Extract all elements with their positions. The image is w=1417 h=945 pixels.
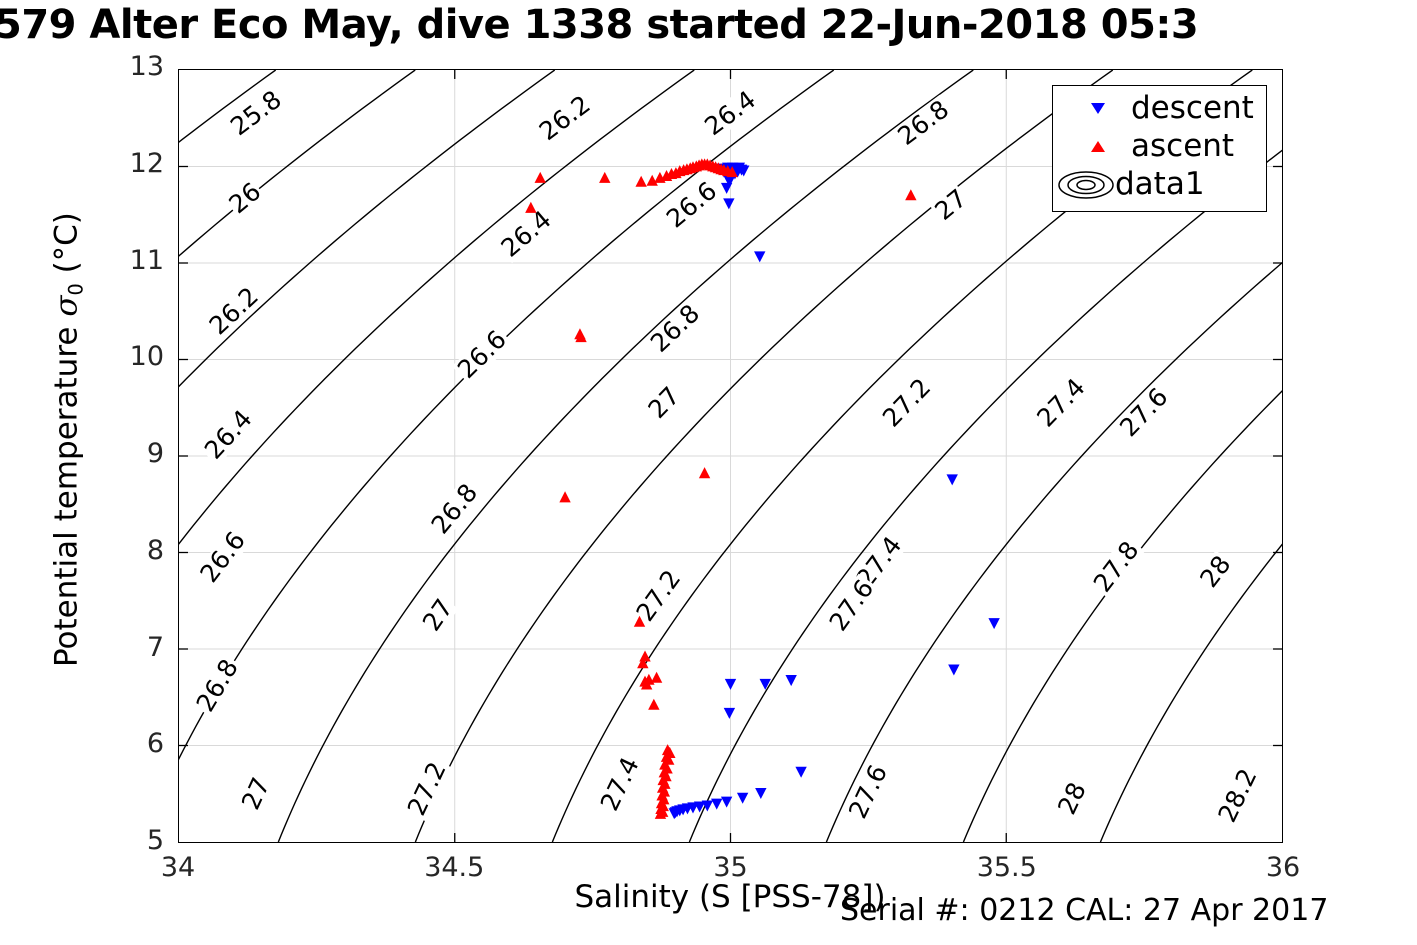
contour-ellipses-icon <box>1057 165 1115 204</box>
instrument-info: Serial #: 0212 CAL: 27 Apr 2017 <box>840 893 1328 928</box>
marker-ascent <box>905 189 916 200</box>
marker-descent <box>785 675 796 686</box>
sigma-symbol: σ <box>48 296 84 317</box>
y-tick-label: 6 <box>104 728 164 759</box>
marker-descent <box>724 708 735 719</box>
y-tick-label: 13 <box>104 51 164 82</box>
marker-descent <box>711 799 722 810</box>
marker-descent <box>948 664 959 675</box>
legend-item-ascent[interactable]: ascent <box>1053 127 1266 166</box>
svg-text:28: 28 <box>1194 550 1236 593</box>
marker-descent <box>988 618 999 629</box>
marker-ascent <box>599 172 610 183</box>
marker-descent <box>754 251 765 262</box>
y-tick-label: 10 <box>104 341 164 372</box>
marker-descent <box>723 198 734 209</box>
y-tick-label: 12 <box>104 148 164 179</box>
svg-text:27.4: 27.4 <box>595 753 645 816</box>
down-triangle-icon <box>1081 89 1115 128</box>
marker-descent <box>755 788 766 799</box>
marker-ascent <box>635 176 646 187</box>
svg-text:27: 27 <box>642 381 685 424</box>
y-tick-label: 9 <box>104 438 164 469</box>
sigma-subscript: 0 <box>65 283 88 295</box>
svg-text:28: 28 <box>1052 778 1092 819</box>
marker-ascent <box>648 699 659 710</box>
series-descent <box>669 163 1000 820</box>
marker-descent <box>795 767 806 778</box>
marker-ascent <box>651 672 662 683</box>
marker-ascent <box>639 651 650 662</box>
legend-item-descent[interactable]: descent <box>1053 89 1266 128</box>
series-ascent <box>525 158 916 818</box>
marker-ascent <box>559 491 570 502</box>
marker-descent <box>947 474 958 485</box>
page-title: 579 Alter Eco May, dive 1338 started 22-… <box>0 0 1417 52</box>
legend-label-descent: descent <box>1131 89 1254 128</box>
svg-text:27: 27 <box>236 773 276 814</box>
marker-descent <box>725 679 736 690</box>
legend-label-ascent: ascent <box>1131 127 1234 166</box>
y-axis-label-post: (°C) <box>48 212 84 283</box>
up-triangle-icon <box>1081 127 1115 166</box>
y-axis-label-pre: Potential temperature <box>48 317 84 667</box>
marker-ascent <box>535 172 546 183</box>
legend-label-data1: data1 <box>1115 165 1205 204</box>
svg-text:27: 27 <box>929 183 972 226</box>
y-tick-label: 7 <box>104 632 164 663</box>
marker-descent <box>737 793 748 804</box>
y-tick-label: 11 <box>104 245 164 276</box>
svg-text:27: 27 <box>417 594 459 637</box>
svg-text:27.2: 27.2 <box>402 757 452 820</box>
y-axis-label: Potential temperature σ0 (°C) <box>48 160 87 720</box>
svg-text:28.2: 28.2 <box>1212 764 1262 827</box>
marker-ascent <box>699 467 710 478</box>
legend[interactable]: descent ascent data1 <box>1052 85 1267 212</box>
contour-line-26.2 <box>179 70 415 410</box>
svg-text:27.6: 27.6 <box>843 760 893 823</box>
contour-line-26.6 <box>179 70 694 819</box>
y-tick-label: 8 <box>104 535 164 566</box>
legend-item-data1[interactable]: data1 <box>1053 165 1266 204</box>
